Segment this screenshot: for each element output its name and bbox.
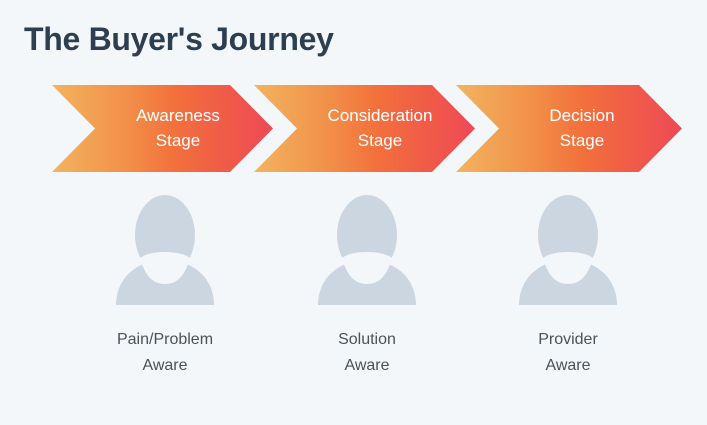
persona-caption-line2: Aware (538, 353, 598, 379)
chevron-arrow-icon (254, 85, 475, 172)
chevron-arrow-icon (456, 85, 682, 172)
persona-caption-line2: Aware (117, 353, 213, 379)
persona-decision: Provider Aware (468, 190, 668, 380)
persona-caption-line1: Provider (538, 327, 598, 353)
person-avatar-icon (312, 190, 422, 305)
persona-awareness: Pain/Problem Aware (65, 190, 265, 380)
persona-caption-line2: Aware (338, 353, 396, 379)
persona-caption: Provider Aware (538, 327, 598, 380)
persona-caption: Solution Aware (338, 327, 396, 380)
chevron-arrow-icon (52, 85, 273, 172)
stage-chevron-band (0, 85, 707, 172)
page-title: The Buyer's Journey (24, 20, 334, 58)
person-avatar-icon (513, 190, 623, 305)
persona-caption-line1: Solution (338, 327, 396, 353)
persona-caption-line1: Pain/Problem (117, 327, 213, 353)
persona-caption: Pain/Problem Aware (117, 327, 213, 380)
buyers-journey-infographic: The Buyer's Journey Awareness Stage (0, 0, 707, 425)
person-avatar-icon (110, 190, 220, 305)
persona-consideration: Solution Aware (267, 190, 467, 380)
